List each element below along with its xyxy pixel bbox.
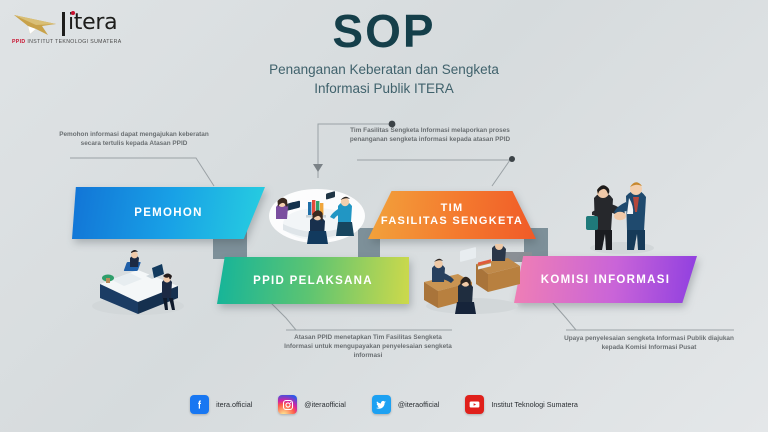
youtube-icon[interactable] <box>465 395 484 414</box>
social-facebook-handle: itera.official <box>216 400 252 409</box>
social-instagram-handle: @iteraofficial <box>304 400 346 409</box>
round-table-illustration <box>262 176 372 248</box>
tim-banner-shape <box>368 191 536 239</box>
handshake-illustration <box>576 172 668 256</box>
social-facebook[interactable]: itera.official <box>190 395 252 414</box>
courtroom-illustration <box>416 244 528 316</box>
note-pemohon: Pemohon informasi dapat mengajukan keber… <box>52 130 216 148</box>
connector-dot-2 <box>509 156 515 162</box>
service-desk-illustration <box>82 248 194 318</box>
ppid-banner-shape <box>217 257 409 304</box>
komisi-banner-shape <box>514 256 697 303</box>
note-komisi: Upaya penyelesaian sengketa Informasi Pu… <box>560 334 738 352</box>
instagram-icon[interactable] <box>278 395 297 414</box>
social-instagram[interactable]: @iteraofficial <box>278 395 346 414</box>
social-youtube-handle: Institut Teknologi Sumatera <box>491 400 578 409</box>
social-youtube[interactable]: Institut Teknologi Sumatera <box>465 395 578 414</box>
social-footer: itera.official @iteraofficial @iteraoffi… <box>0 395 768 414</box>
flow-step-pemohon[interactable]: PEMOHON <box>72 187 265 239</box>
note-tim-fasilitas: Tim Fasilitas Sengketa Informasi melapor… <box>340 126 520 144</box>
note-atasan-ppid: Atasan PPID menetapkan Tim Fasilitas Sen… <box>280 333 456 360</box>
social-twitter-handle: @iteraofficial <box>398 400 440 409</box>
facebook-icon[interactable] <box>190 395 209 414</box>
infographic-canvas: itera PPID INSTITUT TEKNOLOGI SUMATERA S… <box>0 0 768 432</box>
flow-step-ppid-pelaksana[interactable]: PPID PELAKSANA <box>217 257 409 304</box>
pemohon-banner-shape <box>72 187 265 239</box>
flow-step-tim-fasilitas[interactable]: TIM FASILITAS SENGKETA <box>368 191 536 239</box>
arrow-head-down <box>313 164 323 172</box>
social-twitter[interactable]: @iteraofficial <box>372 395 440 414</box>
flow-step-komisi-informasi[interactable]: KOMISI INFORMASI <box>514 256 697 303</box>
twitter-icon[interactable] <box>372 395 391 414</box>
